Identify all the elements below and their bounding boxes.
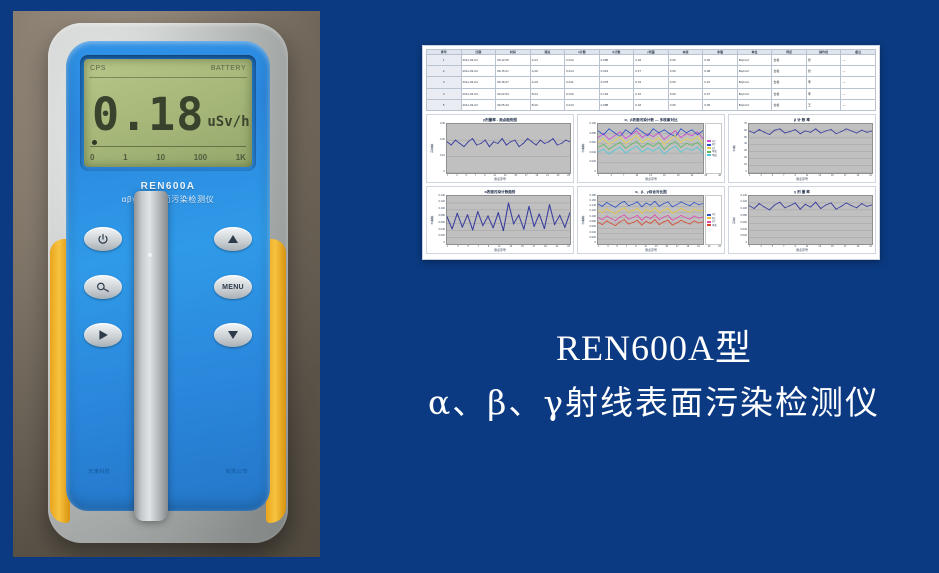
lcd-scale-tick: 100 [194,153,207,162]
chart-y-tick: 0.020 [737,235,747,238]
chart-y-tick: 70 [737,123,747,126]
chart-y-tick: 0 [737,242,747,245]
chart-y-tick: 0.040 [737,229,747,232]
table-cell: 0.085 [599,55,634,66]
table-cell: 0.09 [703,99,738,110]
chart-legend: α计β计γ计本底 [705,195,722,246]
table-row[interactable]: 22011-03-0409:15:21A-020.0140.0910.170.0… [427,66,876,77]
table-cell: A-02 [530,66,565,77]
table-cell: 0.17 [634,66,669,77]
lcd-scale-tick: 10 [156,153,165,162]
table-cell: 3 [427,77,462,88]
chart-y-tick: 50 [737,137,747,140]
lcd-status-row: CPS BATTERY [90,62,246,75]
table-cell: 0.091 [599,66,634,77]
table-cell: 0.011 [565,77,600,88]
chart-y-tick: 0.020 [586,161,596,164]
chart-y-tick: 0.140 [586,205,596,208]
table-cell: Bq/cm2 [737,88,772,99]
table-cell: 0.078 [599,77,634,88]
chart-plot-area [597,123,704,174]
chart-y-axis-label: 计数率 [580,123,586,174]
table-cell: 0.16 [634,88,669,99]
table-cell: 李 [806,88,841,99]
chart-chart-top-right: β 计 数 率计数7060504030201001357911131517192… [728,114,876,183]
play-button[interactable] [84,323,122,347]
table-cell: 0.014 [565,66,600,77]
chart-y-tick: 0.040 [586,152,596,155]
table-cell: A-01 [530,55,565,66]
table-cell: 合格 [772,55,807,66]
table-cell: 2011-03-04 [461,55,496,66]
table-cell: — [841,88,876,99]
power-icon [97,233,109,245]
table-cell: 2011-03-04 [461,99,496,110]
table-cell: 张 [806,66,841,77]
chart-chart-bottom-left: α表面污染计数趋势计数率0.1400.1200.1000.0800.0600.0… [426,186,574,255]
chart-plot-area [446,195,571,246]
chart-y-tick: 0.160 [586,200,596,203]
lcd-scale-tick: 1K [236,153,246,162]
chart-y-ticks: 0.1800.1600.1400.1200.1000.0800.0600.040… [586,195,597,246]
table-cell: 09:18:47 [496,77,531,88]
table-cell: 5 [427,99,462,110]
chart-y-tick: 0.080 [435,215,445,218]
triangle-down-icon [227,330,239,340]
chart-y-tick: 30 [737,150,747,153]
table-cell: 0.102 [599,88,634,99]
legend-label: 净值 [712,154,717,157]
table-cell: — [841,55,876,66]
table-cell: 1 [427,55,462,66]
chart-plot-area [748,195,873,246]
device-footer-marks: 天津科技 有限公司 [66,468,270,475]
chart-y-tick: 0 [586,171,596,174]
legend-item: 本底 [707,224,720,227]
device-subtitle-label: αβγ射线表面污染检测仪 [66,194,270,205]
table-cell: 09:15:21 [496,66,531,77]
lcd-status-right: BATTERY [211,65,246,72]
chart-plot-area [597,195,704,246]
chart-y-axis-label: 计数率 [580,195,586,246]
search-icon [96,281,110,293]
chart-chart-top-mid: α、β表面污染计数 — 多核素对比计数率0.1000.0800.0600.040… [577,114,725,183]
lcd-scale-tick: 0 [90,153,94,162]
device-footer-left: 天津科技 [88,468,110,475]
chart-x-axis-label: 测点序号 [731,248,873,252]
legend-swatch [707,140,711,142]
table-cell: — [841,66,876,77]
chart-y-ticks: 706050403020100 [737,123,748,174]
legend-swatch [707,144,711,146]
table-cell: 张 [806,55,841,66]
table-cell: 0.09 [668,88,703,99]
chart-y-tick: 0.100 [737,208,747,211]
table-cell: 0.088 [599,99,634,110]
chart-y-tick: 0.10 [435,155,445,158]
table-cell: 0.012 [565,55,600,66]
table-cell: 2011-03-04 [461,88,496,99]
chart-y-tick: 0.060 [586,142,596,145]
device-model-label: REN600A [66,181,270,192]
chart-y-tick: 0.080 [737,215,747,218]
table-cell: — [841,99,876,110]
chart-legend: α计β计γ计本底净值 [705,123,722,174]
chart-chart-bottom-right: γ 剂 量 率剂量0.1400.1200.1000.0800.0600.0400… [728,186,876,255]
table-cell: 0.09 [668,55,703,66]
legend-swatch [707,214,711,216]
up-button[interactable] [214,227,252,251]
chart-y-axis-label: 剂量 [731,195,737,246]
table-cell: 09:25:40 [496,99,531,110]
table-cell: 0.08 [703,66,738,77]
table-cell: — [841,77,876,88]
chart-y-axis-label: 计数率 [429,195,435,246]
triangle-right-icon [97,329,109,341]
chart-y-ticks: 0.300.200.100 [435,123,446,174]
table-cell: 0.09 [668,66,703,77]
legend-swatch [707,151,711,153]
table-cell: 合格 [772,77,807,88]
table-cell: 0.10 [703,77,738,88]
chart-y-tick: 0.020 [586,237,596,240]
lcd-reading: 0.18 uSv/h [92,81,246,137]
device-faceplate: CPS BATTERY 0.18 uSv/h 0 1 10 100 1K [66,41,270,511]
legend-item: 净值 [707,154,720,157]
power-button[interactable] [84,227,122,251]
table-row[interactable]: 12011-03-0409:12:05A-010.0120.0850.180.0… [427,55,876,66]
table-cell: Bq/cm2 [737,99,772,110]
chart-y-tick: 60 [737,130,747,133]
lcd-bargraph [90,141,246,147]
chart-chart-top-left: γ剂量率 - 测点趋势图剂量率0.300.200.100135791113151… [426,114,574,183]
chart-x-axis-label: 测点序号 [580,248,722,252]
radiation-detector-device: CPS BATTERY 0.18 uSv/h 0 1 10 100 1K [48,23,288,543]
table-cell: 0.19 [634,77,669,88]
lcd-status-left: CPS [90,65,106,72]
device-handle[interactable] [134,191,168,521]
table-row[interactable]: 32011-03-0409:18:47A-030.0110.0780.190.0… [427,77,876,88]
chart-y-tick: 0.180 [586,195,596,198]
software-screenshot-panel: 序号日期时间测点α计数β计数γ剂量本底净值单位判定操作员备注 12011-03-… [422,45,880,260]
chart-y-ticks: 0.1400.1200.1000.0800.0600.0400.0200 [435,195,446,246]
table-cell: 2011-03-04 [461,66,496,77]
table-row[interactable]: 42011-03-0409:22:03B-010.0160.1020.160.0… [427,88,876,99]
chart-y-tick: 0 [586,242,596,245]
chart-y-ticks: 0.1400.1200.1000.0800.0600.0400.0200 [737,195,748,246]
lcd-value: 0.18 [92,92,204,137]
chart-x-axis-label: 测点序号 [731,177,873,181]
triangle-up-icon [227,234,239,244]
table-cell: Bq/cm2 [737,77,772,88]
lcd-unit: uSv/h [207,115,249,129]
table-cell: A-03 [530,77,565,88]
lcd-bezel: CPS BATTERY 0.18 uSv/h 0 1 10 100 1K [80,55,256,171]
chart-x-axis-label: 测点序号 [429,177,571,181]
lcd-screen: CPS BATTERY 0.18 uSv/h 0 1 10 100 1K [84,59,252,167]
table-cell: 2011-03-04 [461,77,496,88]
table-cell: 2 [427,66,462,77]
table-cell: 0.016 [565,88,600,99]
table-row[interactable]: 52011-03-0409:25:40B-020.0130.0880.180.0… [427,99,876,110]
chart-chart-bottom-mid: α、β、γ综合对比图计数率0.1800.1600.1400.1200.1000.… [577,186,725,255]
chart-plot-area [748,123,873,174]
chart-grid: γ剂量率 - 测点趋势图剂量率0.300.200.100135791113151… [426,114,876,254]
table-cell: B-02 [530,99,565,110]
table-cell: B-01 [530,88,565,99]
legend-label: 本底 [712,224,717,227]
table-cell: 王 [806,99,841,110]
chart-y-tick: 0.020 [435,235,445,238]
chart-y-tick: 20 [737,157,747,160]
search-button[interactable] [84,275,122,299]
table-cell: 合格 [772,88,807,99]
table-cell: 合格 [772,99,807,110]
table-cell: 0.07 [703,88,738,99]
menu-button[interactable]: MENU [214,275,252,299]
legend-swatch [707,147,711,149]
chart-y-tick: 10 [737,164,747,167]
chart-y-tick: 0.060 [586,226,596,229]
measurement-data-table: 序号日期时间测点α计数β计数γ剂量本底净值单位判定操作员备注 12011-03-… [426,49,876,111]
lcd-scale-tick: 1 [123,153,127,162]
lcd-divider [89,77,247,78]
chart-y-tick: 0.140 [737,195,747,198]
table-cell: 4 [427,88,462,99]
table-cell: 李 [806,77,841,88]
product-caption: REN600A型 α、β、γ射线表面污染检测仪 [380,325,928,429]
chart-y-tick: 0.30 [435,123,445,126]
chart-y-tick: 0.100 [435,208,445,211]
chart-y-tick: 0.080 [586,221,596,224]
table-cell: 0.18 [634,55,669,66]
table-cell: 09:12:05 [496,55,531,66]
table-cell: 0.09 [668,77,703,88]
chart-y-tick: 0.100 [586,216,596,219]
chart-y-tick: 0.040 [435,229,445,232]
product-photo: CPS BATTERY 0.18 uSv/h 0 1 10 100 1K [13,11,320,557]
legend-swatch [707,224,711,226]
legend-swatch [707,217,711,219]
chart-y-tick: 0.20 [435,139,445,142]
chart-x-axis-label: 测点序号 [580,177,722,181]
table-cell: Bq/cm2 [737,55,772,66]
device-keypad: MENU [66,227,270,367]
chart-plot-area [446,123,571,174]
table-cell: Bq/cm2 [737,66,772,77]
chart-y-axis-label: 计数 [731,123,737,174]
legend-swatch [707,154,711,156]
chart-y-tick: 40 [737,143,747,146]
chart-y-tick: 0.060 [737,222,747,225]
device-footer-right: 有限公司 [226,468,248,475]
table-cell: 合格 [772,66,807,77]
chart-y-tick: 0.120 [586,210,596,213]
menu-button-label: MENU [222,284,244,291]
chart-y-tick: 0.120 [737,201,747,204]
caption-description-line: α、β、γ射线表面污染检测仪 [380,377,928,429]
chart-y-ticks: 0.1000.0800.0600.0400.0200 [586,123,597,174]
chart-y-tick: 0 [435,242,445,245]
device-branding: REN600A αβγ射线表面污染检测仪 [66,181,270,205]
table-cell: 0.18 [634,99,669,110]
table-cell: 09:22:03 [496,88,531,99]
down-button[interactable] [214,323,252,347]
chart-y-tick: 0.080 [586,133,596,136]
legend-swatch [707,221,711,223]
chart-y-tick: 0.040 [586,232,596,235]
caption-model-line: REN600A型 [380,325,928,371]
chart-y-tick: 0.060 [435,222,445,225]
chart-y-tick: 0.120 [435,201,445,204]
chart-y-tick: 0 [435,171,445,174]
chart-y-tick: 0 [737,171,747,174]
chart-y-axis-label: 剂量率 [429,123,435,174]
table-cell: 0.09 [703,55,738,66]
table-cell: 0.09 [668,99,703,110]
chart-y-tick: 0.140 [435,195,445,198]
chart-x-axis-label: 测点序号 [429,248,571,252]
lcd-scale: 0 1 10 100 1K [90,151,246,164]
table-cell: 0.013 [565,99,600,110]
chart-y-tick: 0.100 [586,123,596,126]
